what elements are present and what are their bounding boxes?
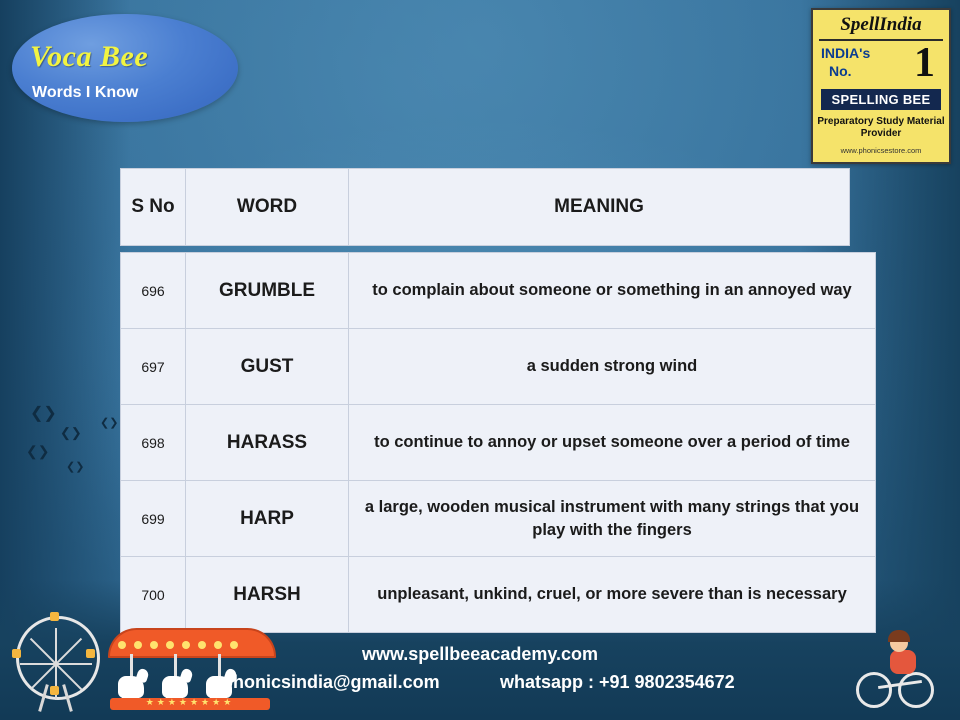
badge-indias-label: INDIA's xyxy=(821,45,870,61)
child-body xyxy=(890,650,916,674)
logo-subtitle: Words I Know xyxy=(32,84,138,102)
column-header-sno: S No xyxy=(121,169,186,246)
carousel-star-strip: ★★★★★★★★ xyxy=(116,697,264,708)
cell-sno: 700 xyxy=(121,557,186,633)
child-hair xyxy=(888,630,910,642)
carousel-horse xyxy=(206,676,232,698)
carousel-light xyxy=(214,641,222,649)
table-header-row: S No WORD MEANING xyxy=(121,169,850,246)
ferris-cabin xyxy=(50,612,59,621)
cell-meaning: to complain about someone or something i… xyxy=(349,253,876,329)
bird-icon: ❮❯ xyxy=(26,444,49,458)
child-on-bicycle-icon xyxy=(854,628,938,714)
ferris-cabin xyxy=(86,649,95,658)
cell-word: HARSH xyxy=(186,557,349,633)
carousel-horse xyxy=(118,676,144,698)
cell-word: GUST xyxy=(186,329,349,405)
ferris-cabin xyxy=(50,686,59,695)
cell-meaning: unpleasant, unkind, cruel, or more sever… xyxy=(349,557,876,633)
badge-prep-text: Preparatory Study Material Provider xyxy=(813,116,949,141)
bicycle-wheel xyxy=(856,672,892,708)
table-row: 697 GUST a sudden strong wind xyxy=(121,329,876,405)
carousel-light xyxy=(230,641,238,649)
ferris-cabin xyxy=(12,649,21,658)
cell-sno: 699 xyxy=(121,481,186,557)
cell-meaning: a sudden strong wind xyxy=(349,329,876,405)
table-row: 700 HARSH unpleasant, unkind, cruel, or … xyxy=(121,557,876,633)
table-header: S No WORD MEANING xyxy=(120,168,850,246)
cell-sno: 697 xyxy=(121,329,186,405)
spellindia-badge: SpellIndia INDIA's No. 1 SPELLING BEE Pr… xyxy=(811,8,951,164)
cell-sno: 698 xyxy=(121,405,186,481)
carousel-light xyxy=(182,641,190,649)
column-header-meaning: MEANING xyxy=(349,169,850,246)
carousel-light xyxy=(166,641,174,649)
badge-prep-line2: Provider xyxy=(813,128,949,141)
carousel-light xyxy=(134,641,142,649)
carousel-icon: ★★★★★★★★ xyxy=(100,624,280,720)
ferris-wheel-icon xyxy=(8,616,104,712)
badge-no-label: No. xyxy=(829,63,852,79)
column-header-word: WORD xyxy=(186,169,349,246)
carousel-lights xyxy=(118,636,262,646)
cell-sno: 696 xyxy=(121,253,186,329)
cell-meaning: a large, wooden musical instrument with … xyxy=(349,481,876,557)
cell-meaning: to continue to annoy or upset someone ov… xyxy=(349,405,876,481)
bird-icon: ❮❯ xyxy=(30,406,57,422)
badge-rank-number: 1 xyxy=(914,39,935,87)
carousel-light xyxy=(198,641,206,649)
cell-word: HARASS xyxy=(186,405,349,481)
badge-prep-line1: Preparatory Study Material xyxy=(813,116,949,129)
bird-icon: ❮❯ xyxy=(66,462,84,473)
bird-icon: ❮❯ xyxy=(60,426,82,439)
badge-url: www.phonicsestore.com xyxy=(813,146,949,155)
word-table: 696 GRUMBLE to complain about someone or… xyxy=(120,252,876,633)
footer-whatsapp: whatsapp : +91 9802354672 xyxy=(500,672,735,693)
table-row: 696 GRUMBLE to complain about someone or… xyxy=(121,253,876,329)
logo-title: Voca Bee xyxy=(30,40,148,74)
badge-rank-area: INDIA's No. 1 xyxy=(813,41,949,87)
carousel-light xyxy=(118,641,126,649)
bicycle-wheel xyxy=(898,672,934,708)
cell-word: HARP xyxy=(186,481,349,557)
table-row: 698 HARASS to continue to annoy or upset… xyxy=(121,405,876,481)
badge-brand: SpellIndia xyxy=(813,15,949,36)
cell-word: GRUMBLE xyxy=(186,253,349,329)
carousel-horse xyxy=(162,676,188,698)
bird-icon: ❮❯ xyxy=(100,418,118,429)
badge-spelling-bee: SPELLING BEE xyxy=(821,89,941,110)
table-row: 699 HARP a large, wooden musical instrum… xyxy=(121,481,876,557)
carousel-light xyxy=(150,641,158,649)
